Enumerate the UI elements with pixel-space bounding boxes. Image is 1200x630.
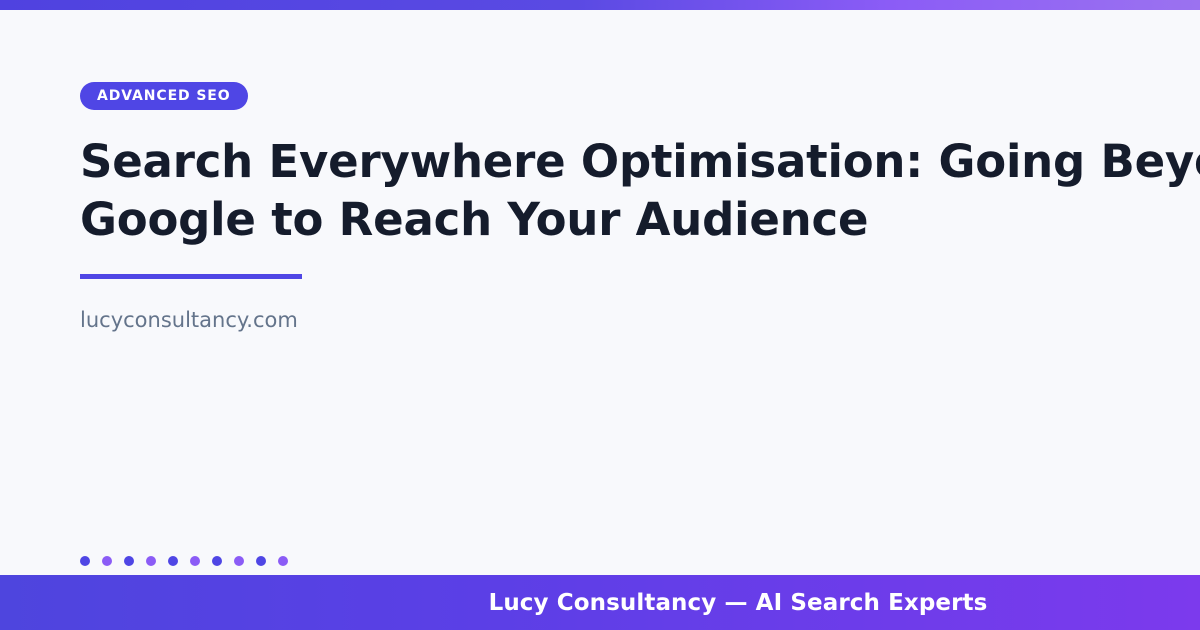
dot-icon	[80, 556, 90, 566]
footer-brand-text: Lucy Consultancy — AI Search Experts	[489, 590, 988, 616]
footer-bar: Lucy Consultancy — AI Search Experts	[0, 575, 1200, 630]
dot-icon	[256, 556, 266, 566]
category-badge: ADVANCED SEO	[80, 82, 248, 110]
top-gradient-strip	[0, 0, 1200, 10]
site-url: lucyconsultancy.com	[80, 307, 298, 333]
dot-icon	[102, 556, 112, 566]
dot-icon	[146, 556, 156, 566]
page-title-line-1: Search Everywhere Optimisation: Going Be…	[80, 133, 1200, 191]
dot-icon	[124, 556, 134, 566]
page-title: Search Everywhere Optimisation: Going Be…	[80, 133, 1200, 249]
accent-rule	[80, 274, 302, 279]
dot-icon	[190, 556, 200, 566]
social-share-card: ADVANCED SEO Search Everywhere Optimisat…	[0, 0, 1200, 630]
dot-icon	[278, 556, 288, 566]
dot-icon	[168, 556, 178, 566]
decorative-dot-row	[80, 556, 288, 566]
page-title-line-2: Google to Reach Your Audience	[80, 191, 1200, 249]
dot-icon	[212, 556, 222, 566]
dot-icon	[234, 556, 244, 566]
